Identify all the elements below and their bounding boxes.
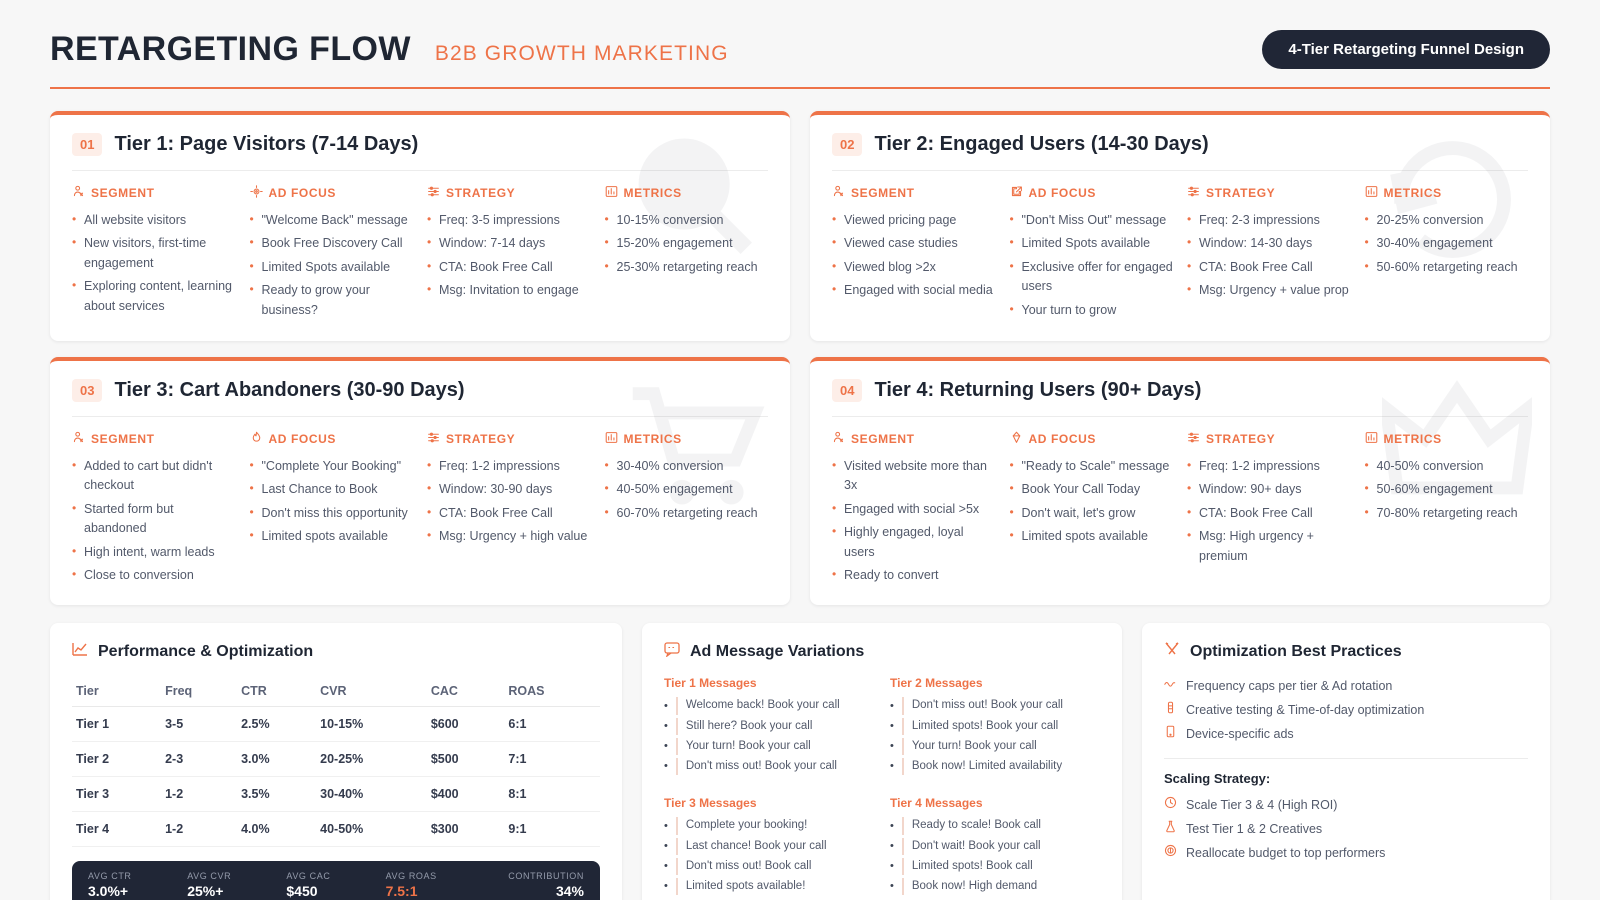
table-cell: 10-15% (316, 707, 427, 742)
tier-number: 03 (72, 379, 102, 402)
tier-grid: 01Tier 1: Page Visitors (7-14 Days)SEGME… (50, 111, 1550, 605)
column-label: STRATEGY (1206, 432, 1275, 446)
tier-divider (72, 170, 768, 171)
column-label: METRICS (1384, 186, 1442, 200)
tier-title: Tier 1: Page Visitors (7-14 Days) (114, 133, 418, 156)
summary-metric: AVG CAC$450 (286, 871, 385, 899)
list-item: •Complete your booking! (664, 817, 874, 834)
list-item: Test Tier 1 & 2 Creatives (1164, 819, 1528, 839)
performance-panel-title: Performance & Optimization (98, 643, 313, 661)
column-header: AD FOCUS (1010, 431, 1174, 447)
list-item: Highly engaged, loyal users (832, 523, 996, 562)
tier-card: 04Tier 4: Returning Users (90+ Days)SEGM… (810, 357, 1550, 605)
list-item: •Limited spots! Book your call (890, 718, 1100, 735)
page-subtitle: B2B GROWTH MARKETING (435, 42, 729, 66)
tier-columns: SEGMENTViewed pricing pageViewed case st… (832, 185, 1528, 324)
performance-table: TierFreqCTRCVRCACROAS Tier 13-52.5%10-15… (72, 676, 600, 847)
column-list: All website visitorsNew visitors, first-… (72, 211, 236, 316)
ad-message-group: Tier 3 Messages•Complete your booking!•L… (664, 796, 874, 898)
column-header: METRICS (605, 431, 769, 447)
tier-divider (832, 416, 1528, 417)
list-item: Limited spots available (250, 527, 414, 546)
list-item: Don't wait, let's grow (1010, 504, 1174, 523)
sliders-icon (1187, 185, 1200, 201)
list-item: Msg: High urgency + premium (1187, 527, 1351, 566)
bullet-icon: • (890, 758, 894, 775)
tier-column: STRATEGYFreq: 2-3 impressionsWindow: 14-… (1187, 185, 1351, 324)
list-item: CTA: Book Free Call (427, 258, 591, 277)
summary-bar: AVG CTR3.0%+AVG CVR25%+AVG CAC$450AVG RO… (72, 861, 600, 900)
ad-message-text: Limited spots! Book call (902, 858, 1033, 875)
table-cell: Tier 1 (72, 707, 161, 742)
table-cell: $600 (427, 707, 505, 742)
ad-message-group: Tier 1 Messages•Welcome back! Book your … (664, 676, 874, 778)
best-practice-text: Creative testing & Time-of-day optimizat… (1186, 700, 1424, 720)
column-label: AD FOCUS (269, 186, 336, 200)
list-item: "Complete Your Booking" (250, 457, 414, 476)
summary-metric: AVG ROAS7.5:1 (386, 871, 485, 899)
bullet-icon: • (664, 758, 668, 775)
list-item: Window: 90+ days (1187, 480, 1351, 499)
column-label: METRICS (624, 186, 682, 200)
clock-icon (1164, 795, 1177, 815)
list-item: New visitors, first-time engagement (72, 234, 236, 273)
list-item: Viewed case studies (832, 234, 996, 253)
bar-chart-icon (1365, 431, 1378, 447)
tier-column: AD FOCUS"Welcome Back" messageBook Free … (250, 185, 414, 324)
tier-column: SEGMENTAdded to cart but didn't checkout… (72, 431, 236, 589)
table-cell: 3-5 (161, 707, 237, 742)
list-item: Freq: 1-2 impressions (1187, 457, 1351, 476)
column-list: Freq: 2-3 impressionsWindow: 14-30 daysC… (1187, 211, 1351, 301)
list-item: •Your turn! Book your call (890, 738, 1100, 755)
tier-header: 03Tier 3: Cart Abandoners (30-90 Days) (72, 379, 768, 416)
tier-column: AD FOCUS"Don't Miss Out" messageLimited … (1010, 185, 1174, 324)
segment-person-icon (72, 431, 85, 447)
ad-messages-panel-header: Ad Message Variations (664, 641, 1100, 662)
bullet-icon: • (664, 698, 668, 715)
column-list: Added to cart but didn't checkoutStarted… (72, 457, 236, 585)
fire-icon (250, 431, 263, 447)
bullet-icon: • (664, 738, 668, 755)
list-item: Exploring content, learning about servic… (72, 277, 236, 316)
ad-message-text: Don't miss out! Book your call (902, 697, 1063, 714)
list-item: 25-30% retargeting reach (605, 258, 769, 277)
ad-message-group-title: Tier 2 Messages (890, 676, 1100, 690)
ad-messages-panel: Ad Message Variations Tier 1 Messages•We… (642, 623, 1122, 900)
tier-column: STRATEGYFreq: 1-2 impressionsWindow: 30-… (427, 431, 591, 589)
table-cell: 6:1 (504, 707, 600, 742)
tier-column: STRATEGYFreq: 1-2 impressionsWindow: 90+… (1187, 431, 1351, 589)
table-cell: 4.0% (237, 812, 316, 847)
tier-title: Tier 4: Returning Users (90+ Days) (874, 379, 1201, 402)
table-cell: 1-2 (161, 777, 237, 812)
list-item: 50-60% retargeting reach (1365, 258, 1529, 277)
column-label: STRATEGY (1206, 186, 1275, 200)
ad-messages-panel-title: Ad Message Variations (690, 643, 864, 661)
column-header: SEGMENT (72, 431, 236, 447)
list-item: Last Chance to Book (250, 480, 414, 499)
list-item: Ready to grow your business? (250, 281, 414, 320)
ad-message-list: •Complete your booking!•Last chance! Boo… (664, 817, 874, 895)
summary-metric-label: AVG CVR (187, 871, 286, 881)
column-label: AD FOCUS (1029, 432, 1096, 446)
ad-message-group: Tier 4 Messages•Ready to scale! Book cal… (890, 796, 1100, 898)
table-column-header: Tier (72, 676, 161, 707)
ad-messages-grid: Tier 1 Messages•Welcome back! Book your … (664, 676, 1100, 900)
best-practice-text: Scale Tier 3 & 4 (High ROI) (1186, 795, 1337, 815)
table-cell: 1-2 (161, 812, 237, 847)
column-header: STRATEGY (427, 185, 591, 201)
tier-card: 03Tier 3: Cart Abandoners (30-90 Days)SE… (50, 357, 790, 605)
column-header: SEGMENT (832, 431, 996, 447)
list-item: •Don't miss out! Book your call (890, 697, 1100, 714)
list-item: "Don't Miss Out" message (1010, 211, 1174, 230)
column-label: STRATEGY (446, 432, 515, 446)
list-item: •Ready to scale! Book call (890, 817, 1100, 834)
list-item: •Don't miss out! Book your call (664, 758, 874, 775)
ad-message-list: •Don't miss out! Book your call•Limited … (890, 697, 1100, 775)
table-row: Tier 13-52.5%10-15%$6006:1 (72, 707, 600, 742)
table-cell: 20-25% (316, 742, 427, 777)
ad-message-list: •Welcome back! Book your call•Still here… (664, 697, 874, 775)
column-header: STRATEGY (1187, 185, 1351, 201)
best-practices-panel: Optimization Best Practices Frequency ca… (1142, 623, 1550, 900)
tier-number: 04 (832, 379, 862, 402)
external-link-icon (1010, 185, 1023, 201)
line-chart-icon (72, 641, 88, 662)
ad-message-text: Don't wait! Book your call (902, 838, 1041, 855)
sliders-icon (427, 185, 440, 201)
list-item: Book Free Discovery Call (250, 234, 414, 253)
ad-message-text: Don't miss out! Book your call (676, 758, 837, 775)
best-practice-text: Device-specific ads (1186, 724, 1294, 744)
table-cell: $500 (427, 742, 505, 777)
table-cell: 3.5% (237, 777, 316, 812)
table-cell: 9:1 (504, 812, 600, 847)
wave-icon (1164, 676, 1177, 696)
ad-message-text: Still here? Book your call (676, 718, 813, 735)
summary-metric: CONTRIBUTION34% (485, 871, 584, 899)
column-label: STRATEGY (446, 186, 515, 200)
list-item: All website visitors (72, 211, 236, 230)
table-row: Tier 41-24.0%40-50%$3009:1 (72, 812, 600, 847)
column-header: METRICS (605, 185, 769, 201)
bullet-icon: • (664, 838, 668, 855)
list-item: 20-25% conversion (1365, 211, 1529, 230)
diamond-icon (1010, 431, 1023, 447)
tier-header: 04Tier 4: Returning Users (90+ Days) (832, 379, 1528, 416)
list-item: Book Your Call Today (1010, 480, 1174, 499)
list-item: Engaged with social >5x (832, 500, 996, 519)
list-item: Creative testing & Time-of-day optimizat… (1164, 700, 1528, 720)
table-cell: Tier 4 (72, 812, 161, 847)
column-header: AD FOCUS (250, 431, 414, 447)
column-label: SEGMENT (91, 186, 155, 200)
list-item: Limited spots available (1010, 527, 1174, 546)
tier-column: AD FOCUS"Complete Your Booking"Last Chan… (250, 431, 414, 589)
tier-title: Tier 2: Engaged Users (14-30 Days) (874, 133, 1208, 156)
table-column-header: CAC (427, 676, 505, 707)
list-item: Freq: 3-5 impressions (427, 211, 591, 230)
list-item: "Ready to Scale" message (1010, 457, 1174, 476)
column-header: AD FOCUS (250, 185, 414, 201)
tier-header: 01Tier 1: Page Visitors (7-14 Days) (72, 133, 768, 170)
table-column-header: Freq (161, 676, 237, 707)
list-item: CTA: Book Free Call (427, 504, 591, 523)
bullet-icon: • (664, 718, 668, 735)
ad-message-text: Your turn! Book your call (676, 738, 811, 755)
table-column-header: CTR (237, 676, 316, 707)
tier-columns: SEGMENTVisited website more than 3xEngag… (832, 431, 1528, 589)
bullet-icon: • (664, 858, 668, 875)
sliders-icon (427, 431, 440, 447)
bar-chart-icon (605, 431, 618, 447)
list-item: 10-15% conversion (605, 211, 769, 230)
ad-message-text: Book now! High demand (902, 878, 1037, 895)
bar-chart-icon (605, 185, 618, 201)
list-item: •Welcome back! Book your call (664, 697, 874, 714)
list-item: Viewed pricing page (832, 211, 996, 230)
flask-icon (1164, 700, 1177, 720)
summary-metric-label: AVG CTR (88, 871, 187, 881)
table-cell: 2-3 (161, 742, 237, 777)
table-cell: Tier 2 (72, 742, 161, 777)
bottom-panels: Performance & Optimization TierFreqCTRCV… (50, 623, 1550, 900)
header-badge: 4-Tier Retargeting Funnel Design (1262, 30, 1550, 69)
list-item: 70-80% retargeting reach (1365, 504, 1529, 523)
table-cell: 7:1 (504, 742, 600, 777)
list-item: Freq: 2-3 impressions (1187, 211, 1351, 230)
bullet-icon: • (890, 698, 894, 715)
list-item: CTA: Book Free Call (1187, 504, 1351, 523)
summary-metric-value: 25%+ (187, 883, 286, 899)
column-list: Visited website more than 3xEngaged with… (832, 457, 996, 585)
device-icon (1164, 724, 1177, 744)
summary-metric: AVG CTR3.0%+ (88, 871, 187, 899)
tier-column: METRICS20-25% conversion30-40% engagemen… (1365, 185, 1529, 324)
tier-column: METRICS10-15% conversion15-20% engagemen… (605, 185, 769, 324)
column-list: 40-50% conversion50-60% engagement70-80%… (1365, 457, 1529, 523)
best-practice-text: Reallocate budget to top performers (1186, 843, 1385, 863)
tier-divider (72, 416, 768, 417)
performance-panel: Performance & Optimization TierFreqCTRCV… (50, 623, 622, 900)
tier-divider (832, 170, 1528, 171)
ad-message-group: Tier 2 Messages•Don't miss out! Book you… (890, 676, 1100, 778)
bullet-icon: • (890, 878, 894, 895)
ad-message-text: Last chance! Book your call (676, 838, 827, 855)
ad-message-text: Complete your booking! (676, 817, 807, 834)
list-item: •Still here? Book your call (664, 718, 874, 735)
list-item: •Don't wait! Book your call (890, 838, 1100, 855)
list-item: CTA: Book Free Call (1187, 258, 1351, 277)
table-cell: 3.0% (237, 742, 316, 777)
tier-column: SEGMENTViewed pricing pageViewed case st… (832, 185, 996, 324)
column-header: STRATEGY (427, 431, 591, 447)
tier-card: 01Tier 1: Page Visitors (7-14 Days)SEGME… (50, 111, 790, 341)
header-divider (50, 87, 1550, 89)
list-item: Close to conversion (72, 566, 236, 585)
list-item: •Limited spots! Book call (890, 858, 1100, 875)
list-item: Msg: Urgency + high value (427, 527, 591, 546)
bullet-icon: • (664, 878, 668, 895)
ad-message-text: Ready to scale! Book call (902, 817, 1041, 834)
ad-message-text: Limited spots! Book your call (902, 718, 1058, 735)
tier-column: AD FOCUS"Ready to Scale" messageBook You… (1010, 431, 1174, 589)
summary-metric-label: CONTRIBUTION (485, 871, 584, 881)
ad-message-text: Your turn! Book your call (902, 738, 1037, 755)
tools-icon (1164, 641, 1180, 662)
list-item: Visited website more than 3x (832, 457, 996, 496)
tier-column: SEGMENTVisited website more than 3xEngag… (832, 431, 996, 589)
tier-number: 01 (72, 133, 102, 156)
list-item: Frequency caps per tier & Ad rotation (1164, 676, 1528, 696)
coin-icon (1164, 843, 1177, 863)
list-item: Don't miss this opportunity (250, 504, 414, 523)
summary-metric-label: AVG ROAS (386, 871, 485, 881)
list-item: 50-60% engagement (1365, 480, 1529, 499)
quote-bubble-icon (664, 641, 680, 662)
list-item: Msg: Urgency + value prop (1187, 281, 1351, 300)
segment-person-icon (832, 185, 845, 201)
list-item: •Your turn! Book your call (664, 738, 874, 755)
target-icon (250, 185, 263, 201)
best-practices-divider (1164, 758, 1528, 759)
bullet-icon: • (664, 818, 668, 835)
list-item: Freq: 1-2 impressions (427, 457, 591, 476)
best-practices-panel-title: Optimization Best Practices (1190, 643, 1402, 661)
summary-metric: AVG CVR25%+ (187, 871, 286, 899)
ad-message-group-title: Tier 4 Messages (890, 796, 1100, 810)
table-row: Tier 22-33.0%20-25%$5007:1 (72, 742, 600, 777)
list-item: Exclusive offer for engaged users (1010, 258, 1174, 297)
tier-card: 02Tier 2: Engaged Users (14-30 Days)SEGM… (810, 111, 1550, 341)
table-column-header: ROAS (504, 676, 600, 707)
list-item: Your turn to grow (1010, 301, 1174, 320)
ad-message-text: Welcome back! Book your call (676, 697, 840, 714)
best-practice-text: Test Tier 1 & 2 Creatives (1186, 819, 1322, 839)
bullet-icon: • (890, 718, 894, 735)
summary-metric-value: 3.0%+ (88, 883, 187, 899)
performance-panel-header: Performance & Optimization (72, 641, 600, 662)
summary-metric-value: $450 (286, 883, 385, 899)
table-cell: $300 (427, 812, 505, 847)
bullet-icon: • (890, 818, 894, 835)
column-label: SEGMENT (851, 186, 915, 200)
tier-header: 02Tier 2: Engaged Users (14-30 Days) (832, 133, 1528, 170)
ad-message-text: Book now! Limited availability (902, 758, 1062, 775)
list-item: Viewed blog >2x (832, 258, 996, 277)
column-label: SEGMENT (851, 432, 915, 446)
best-practice-text: Frequency caps per tier & Ad rotation (1186, 676, 1392, 696)
bullet-icon: • (890, 738, 894, 755)
list-item: Reallocate budget to top performers (1164, 843, 1528, 863)
list-item: Limited Spots available (250, 258, 414, 277)
table-header-row: TierFreqCTRCVRCACROAS (72, 676, 600, 707)
column-list: Viewed pricing pageViewed case studiesVi… (832, 211, 996, 301)
tier-columns: SEGMENTAll website visitorsNew visitors,… (72, 185, 768, 324)
table-cell: 2.5% (237, 707, 316, 742)
list-item: Window: 14-30 days (1187, 234, 1351, 253)
bullet-icon: • (890, 858, 894, 875)
scaling-strategy-list: Scale Tier 3 & 4 (High ROI)Test Tier 1 &… (1164, 795, 1528, 863)
column-list: "Ready to Scale" messageBook Your Call T… (1010, 457, 1174, 547)
column-header: METRICS (1365, 185, 1529, 201)
tier-column: STRATEGYFreq: 3-5 impressionsWindow: 7-1… (427, 185, 591, 324)
column-list: Freq: 1-2 impressionsWindow: 90+ daysCTA… (1187, 457, 1351, 566)
list-item: Engaged with social media (832, 281, 996, 300)
list-item: Added to cart but didn't checkout (72, 457, 236, 496)
beaker-icon (1164, 819, 1177, 839)
column-header: METRICS (1365, 431, 1529, 447)
list-item: •Limited spots available! (664, 878, 874, 895)
list-item: Window: 30-90 days (427, 480, 591, 499)
segment-person-icon (832, 431, 845, 447)
column-list: 10-15% conversion15-20% engagement25-30%… (605, 211, 769, 277)
page-title: RETARGETING FLOW (50, 30, 411, 69)
column-header: SEGMENT (832, 185, 996, 201)
header-title-group: RETARGETING FLOW B2B GROWTH MARKETING (50, 30, 729, 69)
list-item: Scale Tier 3 & 4 (High ROI) (1164, 795, 1528, 815)
list-item: •Last chance! Book your call (664, 838, 874, 855)
table-cell: 8:1 (504, 777, 600, 812)
list-item: Window: 7-14 days (427, 234, 591, 253)
column-list: "Complete Your Booking"Last Chance to Bo… (250, 457, 414, 547)
list-item: 30-40% engagement (1365, 234, 1529, 253)
column-list: 20-25% conversion30-40% engagement50-60%… (1365, 211, 1529, 277)
list-item: Device-specific ads (1164, 724, 1528, 744)
list-item: •Don't miss out! Book call (664, 858, 874, 875)
bullet-icon: • (890, 838, 894, 855)
list-item: •Book now! Limited availability (890, 758, 1100, 775)
table-row: Tier 31-23.5%30-40%$4008:1 (72, 777, 600, 812)
tier-columns: SEGMENTAdded to cart but didn't checkout… (72, 431, 768, 589)
column-header: AD FOCUS (1010, 185, 1174, 201)
summary-metric-label: AVG CAC (286, 871, 385, 881)
best-practices-panel-header: Optimization Best Practices (1164, 641, 1528, 662)
table-column-header: CVR (316, 676, 427, 707)
ad-message-text: Limited spots available! (676, 878, 806, 895)
table-cell: Tier 3 (72, 777, 161, 812)
bar-chart-icon (1365, 185, 1378, 201)
column-label: AD FOCUS (269, 432, 336, 446)
segment-person-icon (72, 185, 85, 201)
ad-message-group-title: Tier 1 Messages (664, 676, 874, 690)
ad-message-text: Don't miss out! Book call (676, 858, 812, 875)
column-header: STRATEGY (1187, 431, 1351, 447)
column-header: SEGMENT (72, 185, 236, 201)
ad-message-group-title: Tier 3 Messages (664, 796, 874, 810)
infographic-page: RETARGETING FLOW B2B GROWTH MARKETING 4-… (0, 0, 1600, 900)
tier-title: Tier 3: Cart Abandoners (30-90 Days) (114, 379, 464, 402)
table-cell: $400 (427, 777, 505, 812)
list-item: "Welcome Back" message (250, 211, 414, 230)
list-item: High intent, warm leads (72, 543, 236, 562)
column-list: "Don't Miss Out" messageLimited Spots av… (1010, 211, 1174, 320)
column-list: "Welcome Back" messageBook Free Discover… (250, 211, 414, 320)
table-cell: 30-40% (316, 777, 427, 812)
list-item: 40-50% engagement (605, 480, 769, 499)
list-item: 30-40% conversion (605, 457, 769, 476)
tier-column: METRICS30-40% conversion40-50% engagemen… (605, 431, 769, 589)
column-label: SEGMENT (91, 432, 155, 446)
tier-column: SEGMENTAll website visitorsNew visitors,… (72, 185, 236, 324)
column-label: AD FOCUS (1029, 186, 1096, 200)
table-cell: 40-50% (316, 812, 427, 847)
column-list: 30-40% conversion40-50% engagement60-70%… (605, 457, 769, 523)
list-item: 40-50% conversion (1365, 457, 1529, 476)
best-practices-list: Frequency caps per tier & Ad rotationCre… (1164, 676, 1528, 744)
